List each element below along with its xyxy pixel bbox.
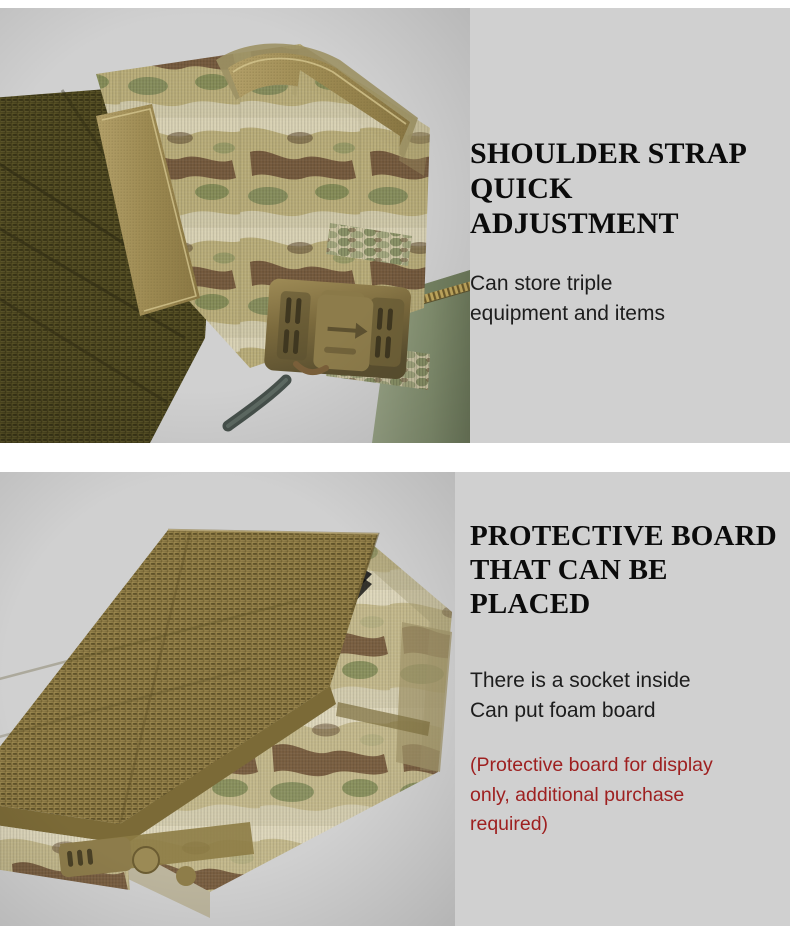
headline-protective-board: PROTECTIVE BOARD THAT CAN BE PLACED [470,520,782,622]
subcopy-line-2: equipment and items [470,299,780,329]
headline-line-1: PROTECTIVE BOARD [470,520,782,554]
headline-line-2: QUICK [470,171,780,206]
subcopy-line-1: Can store triple [470,269,780,299]
subcopy-shoulder-strap: Can store triple equipment and items [470,269,780,329]
headline-line-2: THAT CAN BE [470,554,782,588]
disclaimer-protective-board: (Protective board for display only, addi… [470,751,782,839]
disclaimer-line-2: only, additional purchase [470,781,782,810]
headline-line-1: SHOULDER STRAP [470,136,780,171]
product-feature-page: SHOULDER STRAP QUICK ADJUSTMENT Can stor… [0,0,790,926]
subcopy-line-2: Can put foam board [470,696,782,726]
protective-board-illustration [0,472,455,926]
subcopy-protective-board: There is a socket inside Can put foam bo… [470,666,782,726]
copy-block-protective-board: PROTECTIVE BOARD THAT CAN BE PLACED Ther… [470,520,782,839]
feature-panel-protective-board: PROTECTIVE BOARD THAT CAN BE PLACED Ther… [0,472,790,926]
headline-shoulder-strap: SHOULDER STRAP QUICK ADJUSTMENT [470,136,780,241]
copy-block-shoulder-strap: SHOULDER STRAP QUICK ADJUSTMENT Can stor… [470,136,780,329]
disclaimer-line-3: required) [470,810,782,839]
product-photo-protective-board [0,472,455,926]
feature-panel-shoulder-strap: SHOULDER STRAP QUICK ADJUSTMENT Can stor… [0,8,790,443]
product-photo-shoulder-strap [0,8,470,443]
shoulder-strap-illustration [0,8,470,443]
disclaimer-line-1: (Protective board for display [470,751,782,780]
subcopy-line-1: There is a socket inside [470,666,782,696]
headline-line-3: PLACED [470,588,782,622]
headline-line-3: ADJUSTMENT [470,206,780,241]
